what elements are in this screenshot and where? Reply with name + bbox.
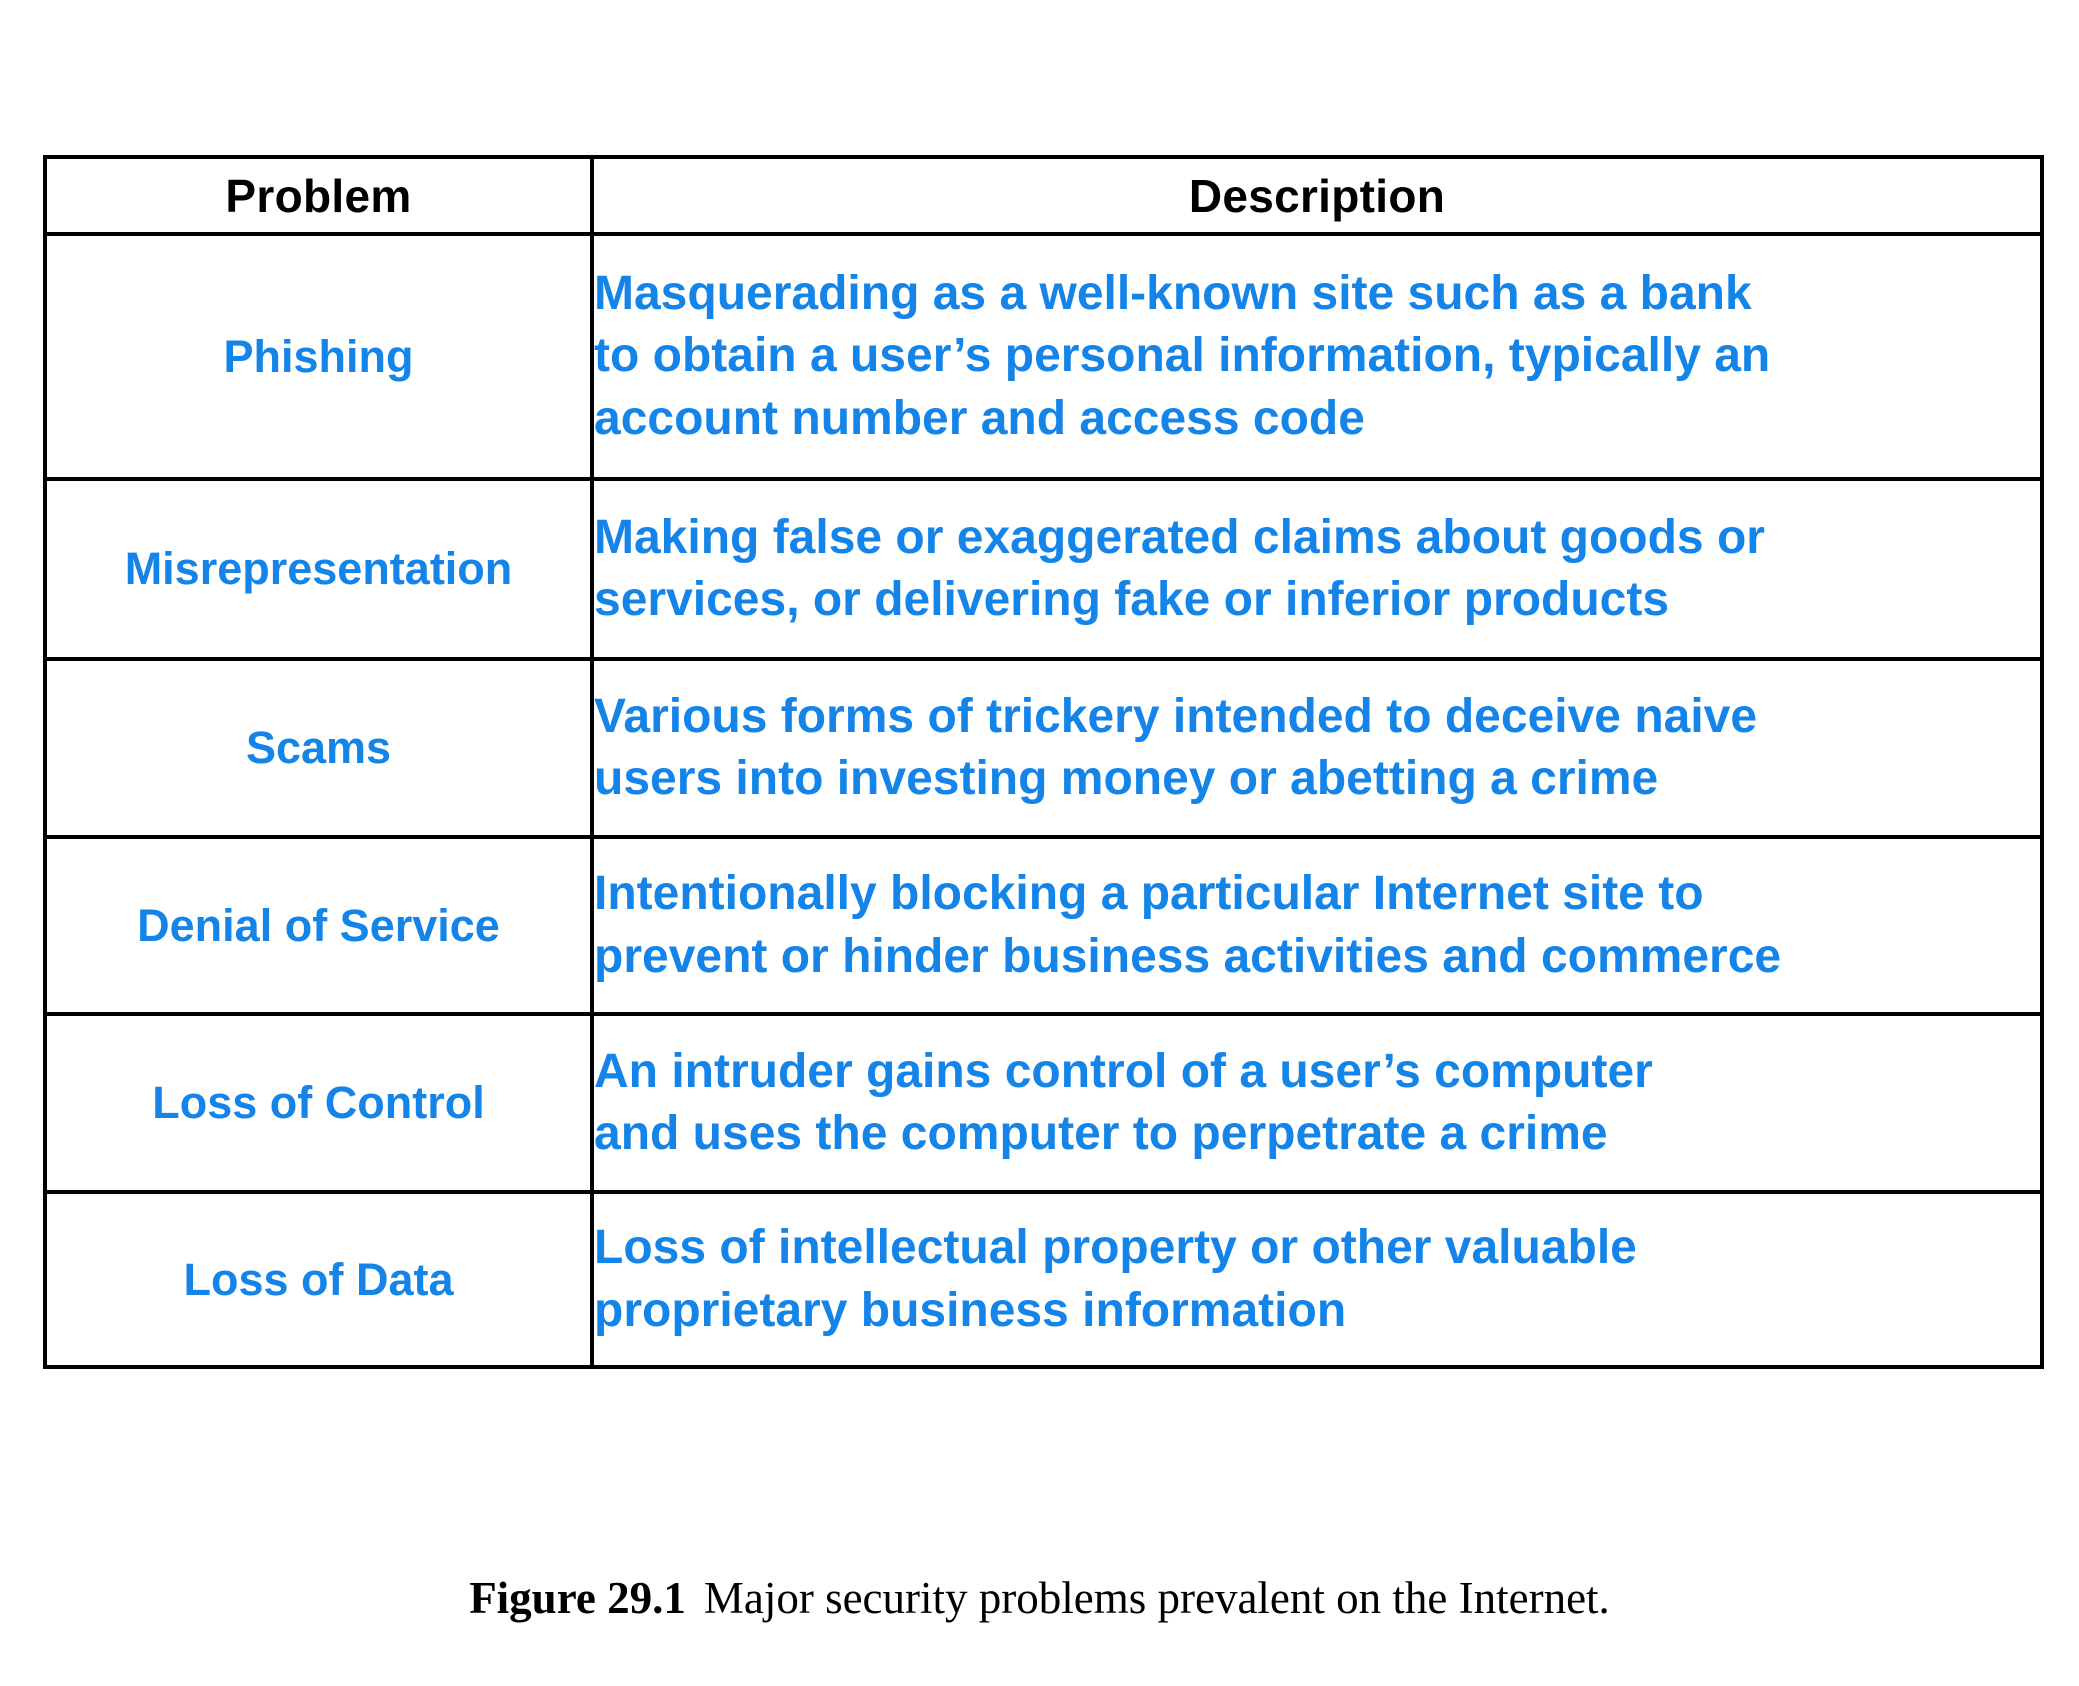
- cell-problem: Loss of Control: [45, 1014, 592, 1192]
- table-row: Misrepresentation Making false or exagge…: [45, 479, 2042, 659]
- figure-caption-text: Major security problems prevalent on the…: [704, 1573, 1610, 1623]
- security-problems-table: Problem Description Phishing Masqueradin…: [43, 155, 2044, 1369]
- cell-problem: Denial of Service: [45, 837, 592, 1014]
- column-header-description: Description: [592, 157, 2042, 234]
- table-header: Problem Description: [45, 157, 2042, 234]
- cell-problem: Misrepresentation: [45, 479, 592, 659]
- table-body: Phishing Masquerading as a well-known si…: [45, 234, 2042, 1367]
- cell-problem: Loss of Data: [45, 1192, 592, 1367]
- figure-caption: Figure 29.1Major security problems preva…: [0, 1572, 2079, 1624]
- cell-description: Making false or exaggerated claims about…: [592, 479, 2042, 659]
- figure-container: Problem Description Phishing Masqueradin…: [0, 0, 2079, 1686]
- table-header-row: Problem Description: [45, 157, 2042, 234]
- cell-problem: Phishing: [45, 234, 592, 479]
- table-row: Denial of Service Intentionally blocking…: [45, 837, 2042, 1014]
- cell-description: An intruder gains control of a user’s co…: [592, 1014, 2042, 1192]
- cell-description: Intentionally blocking a particular Inte…: [592, 837, 2042, 1014]
- cell-problem: Scams: [45, 659, 592, 837]
- figure-caption-label: Figure 29.1: [469, 1573, 686, 1623]
- table-row: Loss of Control An intruder gains contro…: [45, 1014, 2042, 1192]
- cell-description: Loss of intellectual property or other v…: [592, 1192, 2042, 1367]
- cell-description: Masquerading as a well-known site such a…: [592, 234, 2042, 479]
- cell-description: Various forms of trickery intended to de…: [592, 659, 2042, 837]
- table-row: Scams Various forms of trickery intended…: [45, 659, 2042, 837]
- table-row: Loss of Data Loss of intellectual proper…: [45, 1192, 2042, 1367]
- column-header-problem: Problem: [45, 157, 592, 234]
- table-row: Phishing Masquerading as a well-known si…: [45, 234, 2042, 479]
